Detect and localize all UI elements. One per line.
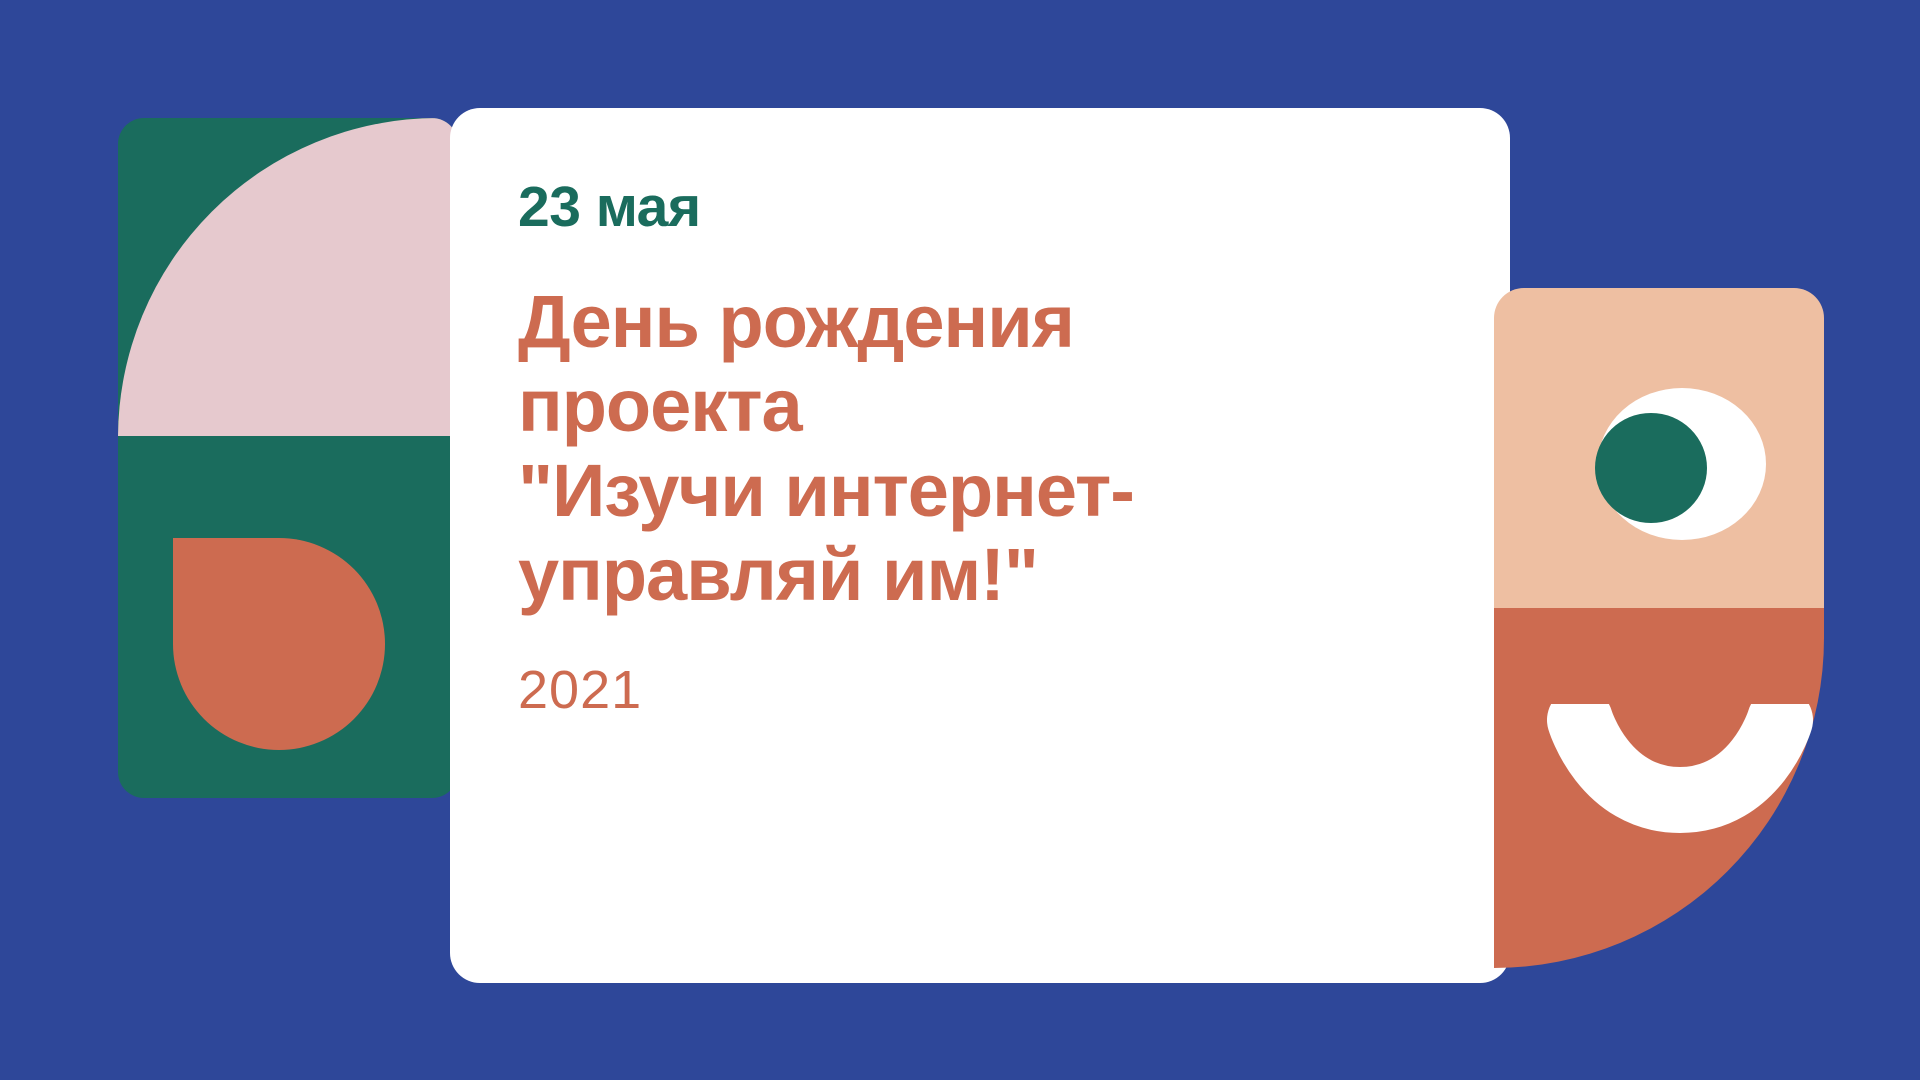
event-title-line-3: "Изучи интернет- [518,449,1450,533]
pink-quarter-arc-icon [118,118,458,436]
event-title-line-4: управляй им!" [518,533,1450,617]
event-date: 23 мая [518,178,1450,238]
pink-arc-band [118,118,458,436]
terracotta-droplet-icon [173,538,385,750]
event-date-day: 23 [518,175,580,239]
eye-iris-icon [1595,413,1707,523]
event-card-content: 23 мая День рождения проекта "Изучи инте… [518,178,1450,717]
smile-icon [1546,704,1814,844]
left-decoration-card [118,118,458,798]
face-decoration [1494,288,1824,968]
event-year: 2021 [518,663,1450,717]
event-title-line-1: День рождения [518,280,1450,364]
slide-canvas: 23 мая День рождения проекта "Изучи инте… [0,0,1920,1080]
event-date-month: мая [596,175,701,239]
event-title-line-2: проекта [518,364,1450,448]
event-card: 23 мая День рождения проекта "Изучи инте… [450,108,1510,983]
event-title: День рождения проекта "Изучи интернет- у… [518,280,1450,617]
